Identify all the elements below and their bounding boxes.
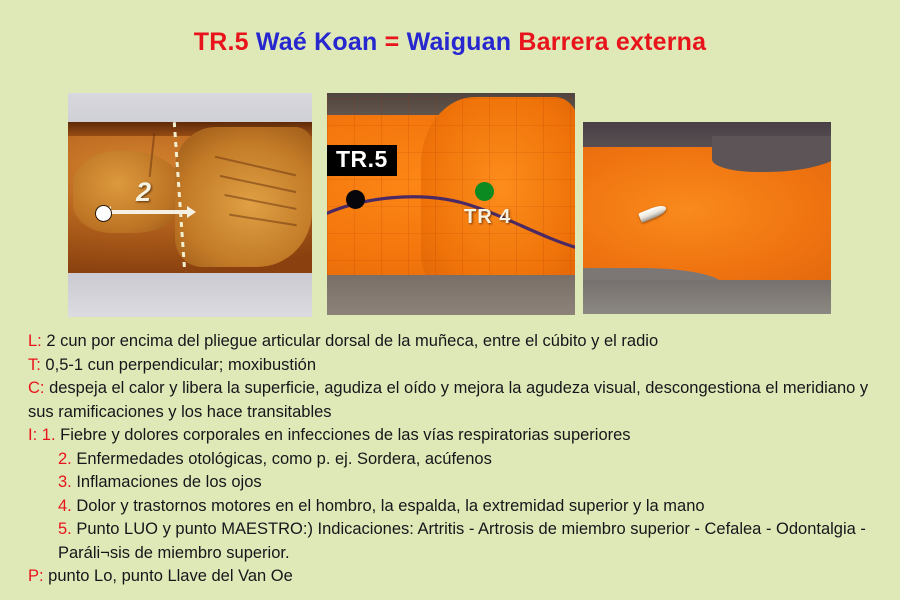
slide-root: TR.5 Waé Koan = Waiguan Barrera externa … [0,0,900,600]
fig2-point-tr4-dot [475,182,494,201]
indicacion-text: Enfermedades otológicas, como p. ej. Sor… [72,450,492,468]
fig1-measurement-arrow-icon [110,210,188,214]
fig1-cloth-bottom [68,273,312,317]
fig3-background-bottom [583,280,831,314]
key-particularidades: P: [28,567,44,585]
indicacion-text: Inflamaciones de los ojos [72,473,262,491]
fig2-meridian-line-icon [327,181,575,251]
figure-wrist-measurement: 2 [68,93,312,317]
fig3-background-notch [712,136,831,172]
line-particularidades: P: punto Lo, punto Llave del Van Oe [28,565,888,589]
text-acciones: despeja el calor y libera la superficie,… [28,379,868,421]
line-indicacion-1: I: 1. Fiebre y dolores corporales en inf… [28,424,888,448]
fig2-background-bottom [327,275,575,315]
fig2-label-tr4: TR 4 [464,206,511,229]
indicacion-text: Fiebre y dolores corporales en infeccion… [56,426,631,444]
indicacion-text: Punto LUO y punto MAESTRO:) Indicaciones… [58,520,866,562]
line-indicacion-4: 4. Dolor y trastornos motores en el homb… [28,495,888,519]
line-indicacion-3: 3. Inflamaciones de los ojos [28,471,888,495]
fig1-distance-label: 2 [136,177,151,208]
indicacion-number: 4. [58,497,72,515]
key-tecnica: T: [28,356,41,374]
fig1-muscle-mass [73,151,185,233]
figure-strip: 2 TR.5 TR 4 [0,0,900,330]
key-acciones: C: [28,379,45,397]
indicacion-number: 1. [42,426,56,444]
indicacion-number: 5. [58,520,72,538]
fig1-cloth-top [68,93,312,123]
text-localizacion: 2 cun por encima del pliegue articular d… [42,332,658,350]
line-tecnica: T: 0,5-1 cun perpendicular; moxibustión [28,354,888,378]
text-tecnica: 0,5-1 cun perpendicular; moxibustión [41,356,316,374]
figure-meridian-points: TR.5 TR 4 [327,93,575,315]
line-acciones: C: despeja el calor y libera la superfic… [28,377,888,424]
line-indicacion-5: 5. Punto LUO y punto MAESTRO:) Indicacio… [28,518,888,565]
key-localizacion: L: [28,332,42,350]
fig1-point-marker-icon [95,205,112,222]
figure-needle-insertion [583,122,831,314]
line-indicacion-2: 2. Enfermedades otológicas, como p. ej. … [28,448,888,472]
indicacion-text: Dolor y trastornos motores en el hombro,… [72,497,705,515]
text-particularidades: punto Lo, punto Llave del Van Oe [44,567,293,585]
indicacion-number: 3. [58,473,72,491]
description-block: L: 2 cun por encima del pliegue articula… [28,330,888,589]
key-indicaciones: I: [28,426,37,444]
fig2-label-tr5: TR.5 [327,145,397,176]
line-localizacion: L: 2 cun por encima del pliegue articula… [28,330,888,354]
fig2-point-tr5-dot [346,190,365,209]
indicacion-number: 2. [58,450,72,468]
